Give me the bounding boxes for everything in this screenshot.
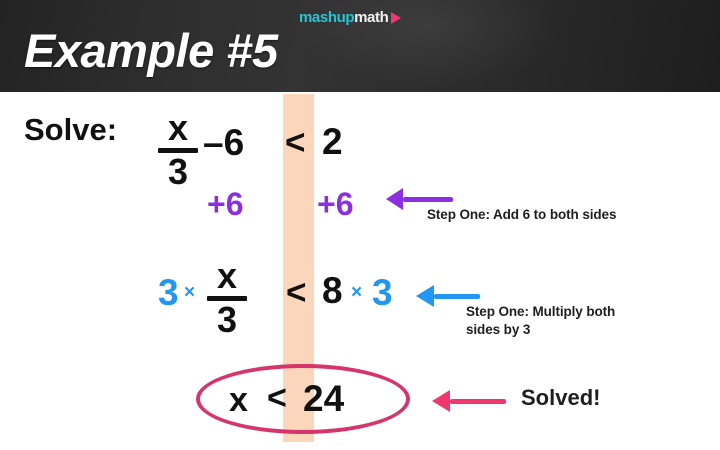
answer-value: 24 bbox=[303, 380, 344, 417]
step2-caption-line2: sides by 3 bbox=[466, 321, 684, 339]
answer-variable: x bbox=[229, 383, 248, 417]
step1-right-operation: +6 bbox=[317, 188, 353, 220]
step1-left-operation: +6 bbox=[207, 188, 243, 220]
equation-line2-relation: < bbox=[286, 275, 306, 310]
mashup-math-logo[interactable]: mashup math bbox=[299, 9, 401, 26]
slide-header: mashup math Example #5 bbox=[0, 0, 720, 92]
step2-caption-line1: Step One: Multiply both bbox=[466, 303, 684, 321]
equation-line1-relation: < bbox=[285, 125, 305, 160]
fraction-denominator: 3 bbox=[168, 154, 188, 191]
answer-relation: < bbox=[267, 381, 287, 415]
solve-prompt-label: Solve: bbox=[24, 114, 117, 145]
equation-line1-fraction: x 3 bbox=[158, 110, 198, 190]
fraction-numerator: x bbox=[217, 258, 237, 295]
fraction-denominator: 3 bbox=[217, 302, 237, 339]
step1-caption: Step One: Add 6 to both sides bbox=[427, 206, 697, 224]
equation-line1-right-side: 2 bbox=[322, 123, 343, 160]
equation-line2-right-times-icon: × bbox=[351, 283, 362, 302]
answer-solved-label: Solved! bbox=[521, 387, 600, 409]
equation-line1-minus-six: –6 bbox=[203, 124, 244, 161]
answer-left-arrow-icon bbox=[432, 390, 508, 412]
logo-text-mashup: mashup bbox=[299, 10, 354, 25]
step2-caption: Step One: Multiply both sides by 3 bbox=[466, 303, 684, 339]
fraction-numerator: x bbox=[168, 110, 188, 147]
slide-canvas: mashup math Example #5 Solve: x 3 –6 < 2… bbox=[0, 0, 720, 450]
equation-line2-left-times-icon: × bbox=[184, 283, 195, 302]
logo-text-math: math bbox=[354, 10, 388, 25]
equation-line2-right-value: 8 bbox=[322, 272, 343, 309]
play-triangle-icon bbox=[391, 12, 401, 24]
equation-line2-right-multiplier: 3 bbox=[372, 274, 393, 311]
page-title: Example #5 bbox=[24, 23, 278, 78]
equation-line2-fraction: x 3 bbox=[207, 258, 247, 338]
equation-line2-left-multiplier: 3 bbox=[158, 274, 179, 311]
